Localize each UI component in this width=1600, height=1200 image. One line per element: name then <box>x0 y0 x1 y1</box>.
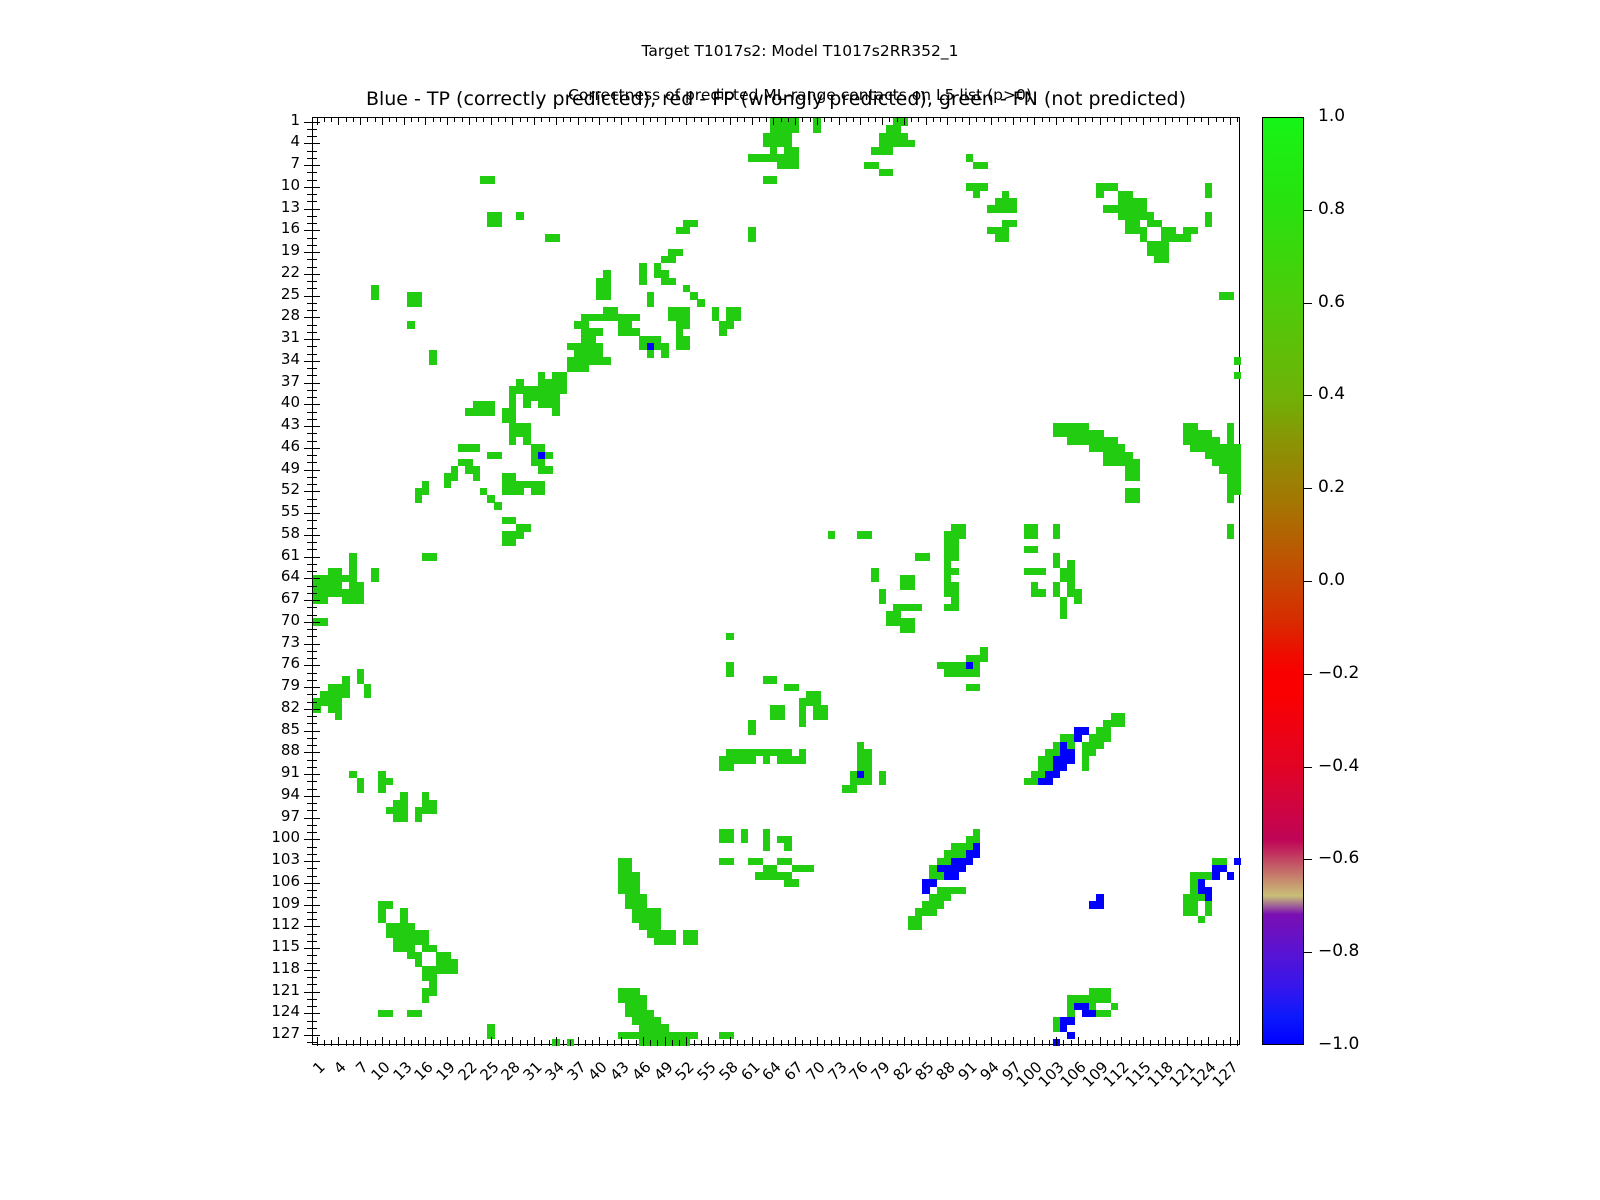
y-tick-right <box>313 506 317 507</box>
x-tick-top <box>556 118 557 125</box>
cell-fn <box>886 147 894 155</box>
y-tick-right <box>313 1035 320 1036</box>
y-tick-label: 37 <box>210 372 300 390</box>
y-tick-right <box>313 143 320 144</box>
cell-fn <box>676 249 684 257</box>
cell-tp <box>1053 763 1061 771</box>
y-tick-right <box>313 709 320 710</box>
y-tick <box>304 535 313 536</box>
colorbar-tick <box>1304 581 1312 582</box>
y-tick-right <box>313 368 317 369</box>
x-tick-top <box>1092 118 1093 122</box>
cell-tp <box>958 858 966 866</box>
cell-fn <box>545 452 553 460</box>
cell-fn <box>560 386 568 394</box>
cell-fn <box>328 589 336 597</box>
x-tick-top <box>1063 118 1064 122</box>
y-tick-right <box>313 615 317 616</box>
y-tick-right <box>313 955 317 956</box>
x-tick-top <box>1179 118 1180 122</box>
cell-fn <box>661 350 669 358</box>
x-tick <box>338 1037 339 1046</box>
x-tick-top <box>897 118 898 122</box>
y-tick-right <box>313 549 317 550</box>
y-tick-right <box>313 629 317 630</box>
x-tick-top <box>1150 118 1151 122</box>
cell-tp <box>929 879 937 887</box>
x-tick <box>1027 1040 1028 1046</box>
cell-fn <box>922 553 930 561</box>
cell-fn <box>429 357 437 365</box>
x-tick <box>1005 1040 1006 1046</box>
x-tick <box>1143 1037 1144 1046</box>
y-tick-right <box>313 622 320 623</box>
y-tick-right <box>313 245 317 246</box>
y-tick-right <box>313 470 320 471</box>
x-tick <box>1085 1040 1086 1046</box>
y-tick-right <box>313 1006 317 1007</box>
y-tick-right <box>313 528 317 529</box>
cell-fn <box>523 401 531 409</box>
cell-fn <box>1103 1010 1111 1018</box>
y-tick <box>304 143 313 144</box>
x-tick-top <box>454 118 455 122</box>
y-tick-right <box>313 861 320 862</box>
x-tick-top <box>998 118 999 122</box>
y-tick-right <box>313 941 317 942</box>
y-tick <box>304 774 313 775</box>
x-tick-top <box>512 118 513 125</box>
x-tick-top <box>505 118 506 122</box>
x-tick-top <box>462 118 463 122</box>
x-tick <box>868 1040 869 1046</box>
y-tick-right <box>313 397 317 398</box>
cell-fn <box>415 1010 423 1018</box>
y-tick-right <box>313 441 317 442</box>
y-tick <box>304 818 313 819</box>
x-tick-top <box>904 118 905 125</box>
y-tick-label: 7 <box>210 154 300 172</box>
x-tick <box>411 1040 412 1046</box>
x-tick-top <box>1013 118 1014 125</box>
cell-fn <box>647 350 655 358</box>
cell-fn <box>335 713 343 721</box>
cell-tp <box>857 771 865 779</box>
cell-fn <box>770 176 778 184</box>
x-tick <box>781 1040 782 1046</box>
y-tick-right <box>313 151 317 152</box>
y-tick <box>304 992 313 993</box>
x-tick-top <box>1194 118 1195 122</box>
suptitle-line-1: Target T1017s2: Model T1017s2RR352_1 <box>642 42 959 60</box>
colorbar-tick <box>1304 767 1312 768</box>
y-tick-label: 10 <box>210 176 300 194</box>
colorbar-tick <box>1304 395 1312 396</box>
y-tick <box>304 1013 313 1014</box>
y-tick-right <box>313 491 320 492</box>
cell-fn <box>741 756 749 764</box>
y-tick-label: 55 <box>210 502 300 520</box>
cell-fn <box>690 1032 698 1040</box>
x-tick-top <box>425 118 426 125</box>
cell-tp <box>922 887 930 895</box>
y-tick-right <box>313 636 317 637</box>
x-tick-top <box>1005 118 1006 122</box>
x-tick-top <box>621 118 622 125</box>
y-tick <box>304 187 313 188</box>
cell-fn <box>487 401 495 409</box>
x-tick-top <box>1056 118 1057 125</box>
x-tick <box>1237 1040 1238 1046</box>
cell-fn <box>973 669 981 677</box>
cell-fn <box>386 807 394 815</box>
x-tick-top <box>447 118 448 125</box>
x-tick-top <box>1187 118 1188 125</box>
y-tick-right <box>313 702 317 703</box>
y-tick-label: 22 <box>210 263 300 281</box>
cell-tp <box>1234 858 1242 866</box>
cell-tp <box>1212 872 1220 880</box>
x-tick-top <box>831 118 832 122</box>
y-tick-right <box>313 1021 317 1022</box>
y-tick-right <box>313 716 317 717</box>
y-tick-label: 88 <box>210 741 300 759</box>
y-tick <box>304 839 313 840</box>
x-tick-top <box>1230 118 1231 125</box>
x-tick-top <box>338 118 339 125</box>
y-tick-label: 1 <box>210 111 300 129</box>
cell-fn <box>973 191 981 199</box>
x-tick-top <box>744 118 745 122</box>
cell-fn <box>639 278 647 286</box>
y-tick <box>304 926 313 927</box>
y-tick-right <box>313 165 320 166</box>
x-tick-top <box>752 118 753 125</box>
x-tick <box>889 1040 890 1046</box>
y-tick <box>304 448 313 449</box>
y-tick <box>304 470 313 471</box>
cell-fn <box>407 321 415 329</box>
x-tick <box>1230 1037 1231 1046</box>
x-tick <box>1020 1040 1021 1046</box>
y-tick-label: 76 <box>210 654 300 672</box>
contact-map-plot[interactable] <box>312 117 1240 1045</box>
y-tick <box>304 665 313 666</box>
y-tick-right <box>313 448 320 449</box>
cell-fn <box>763 843 771 851</box>
x-tick-top <box>563 118 564 122</box>
y-tick-right <box>313 404 320 405</box>
x-tick <box>1194 1040 1195 1046</box>
y-tick-right <box>313 745 317 746</box>
y-tick-right <box>313 535 320 536</box>
y-tick-right <box>313 738 317 739</box>
y-tick-right <box>313 593 317 594</box>
x-tick-top <box>650 118 651 122</box>
x-tick <box>353 1040 354 1046</box>
cell-fn <box>908 582 916 590</box>
cell-fn <box>509 437 517 445</box>
x-tick <box>599 1037 600 1046</box>
x-tick <box>976 1040 977 1046</box>
y-tick-right <box>313 557 320 558</box>
cell-fn <box>864 531 872 539</box>
x-tick-top <box>1114 118 1115 122</box>
y-tick-label: 91 <box>210 763 300 781</box>
y-tick-right <box>313 513 320 514</box>
cell-fn <box>864 778 872 786</box>
y-tick-right <box>313 905 320 906</box>
cell-fn <box>552 234 560 242</box>
cell-fn <box>1118 720 1126 728</box>
cell-tp <box>538 452 546 460</box>
x-tick-top <box>686 118 687 125</box>
y-tick-right <box>313 1042 317 1043</box>
cell-fn <box>784 133 792 141</box>
cell-fn <box>806 865 814 873</box>
y-tick-right <box>313 963 317 964</box>
x-tick <box>831 1040 832 1046</box>
cell-tp <box>1205 894 1213 902</box>
y-tick-right <box>313 172 317 173</box>
cell-fn <box>784 843 792 851</box>
x-tick-top <box>657 118 658 122</box>
x-tick <box>1158 1040 1159 1046</box>
y-tick-right <box>313 897 317 898</box>
cell-fn <box>1132 473 1140 481</box>
y-tick-right <box>313 600 320 601</box>
y-tick-right <box>313 383 320 384</box>
y-tick <box>304 426 313 427</box>
x-tick-top <box>694 118 695 122</box>
y-tick-right <box>313 644 320 645</box>
x-tick <box>926 1037 927 1046</box>
x-tick <box>440 1040 441 1046</box>
y-tick-right <box>313 810 317 811</box>
cell-fn <box>944 894 952 902</box>
x-tick <box>636 1040 637 1046</box>
y-tick-right <box>313 977 317 978</box>
cell-fn <box>915 923 923 931</box>
x-tick-top <box>860 118 861 125</box>
y-tick <box>304 1035 313 1036</box>
x-tick-top <box>1201 118 1202 122</box>
x-tick-top <box>346 118 347 122</box>
y-tick-label: 16 <box>210 219 300 237</box>
cell-fn <box>1103 734 1111 742</box>
x-tick <box>534 1037 535 1046</box>
x-tick <box>1223 1040 1224 1046</box>
y-tick-right <box>313 984 317 985</box>
x-tick <box>433 1040 434 1046</box>
cell-fn <box>371 292 379 300</box>
x-tick <box>346 1040 347 1046</box>
cell-fn <box>792 125 800 133</box>
x-tick <box>592 1040 593 1046</box>
cell-fn <box>1234 372 1242 380</box>
x-tick <box>1114 1040 1115 1046</box>
x-tick <box>498 1040 499 1046</box>
y-tick-right <box>313 854 317 855</box>
cell-fn <box>320 597 328 605</box>
x-tick-top <box>636 118 637 122</box>
cell-fn <box>487 1024 495 1032</box>
cell-fn <box>748 234 756 242</box>
cell-fn <box>581 365 589 373</box>
y-tick-right <box>313 317 320 318</box>
x-tick-top <box>585 118 586 122</box>
y-tick-right <box>313 281 317 282</box>
x-tick-top <box>773 118 774 125</box>
y-tick-label: 58 <box>210 524 300 542</box>
y-tick-right <box>313 774 320 775</box>
x-tick-top <box>947 118 948 125</box>
y-tick-right <box>313 803 317 804</box>
x-tick <box>1121 1037 1122 1046</box>
x-tick <box>1078 1037 1079 1046</box>
cell-fn <box>937 901 945 909</box>
cell-fn <box>690 220 698 228</box>
y-tick-right <box>313 361 320 362</box>
colorbar-tick-label: −0.2 <box>1318 663 1359 683</box>
x-tick-top <box>592 118 593 122</box>
x-tick <box>454 1040 455 1046</box>
x-tick-top <box>599 118 600 125</box>
x-tick <box>527 1040 528 1046</box>
y-tick-right <box>313 303 317 304</box>
x-tick-top <box>491 118 492 125</box>
x-tick <box>549 1040 550 1046</box>
y-tick-label: 43 <box>210 415 300 433</box>
y-tick <box>304 752 313 753</box>
y-tick-right <box>313 332 317 333</box>
y-tick <box>304 274 313 275</box>
x-tick-top <box>1107 118 1108 122</box>
y-tick-right <box>313 520 317 521</box>
cell-tp <box>966 858 974 866</box>
y-tick-label: 52 <box>210 480 300 498</box>
x-tick-top <box>1020 118 1021 122</box>
y-tick-right <box>313 723 317 724</box>
x-tick <box>1092 1040 1093 1046</box>
x-tick-top <box>795 118 796 125</box>
x-tick-top <box>418 118 419 122</box>
colorbar-tick <box>1304 674 1312 675</box>
y-tick-right <box>313 267 317 268</box>
y-tick-label: 94 <box>210 785 300 803</box>
y-tick-right <box>313 230 320 231</box>
cell-tp <box>1074 734 1082 742</box>
x-tick <box>1129 1040 1130 1046</box>
x-tick-top <box>578 118 579 125</box>
cell-fn <box>429 553 437 561</box>
cell-fn <box>473 444 481 452</box>
y-tick-label: 112 <box>210 915 300 933</box>
x-tick <box>839 1037 840 1046</box>
cell-fn <box>1205 191 1213 199</box>
cell-fn <box>980 183 988 191</box>
y-tick-right <box>313 564 317 565</box>
x-tick <box>904 1037 905 1046</box>
y-tick-right <box>313 180 317 181</box>
x-tick-top <box>1071 118 1072 122</box>
y-tick-label: 82 <box>210 698 300 716</box>
x-tick <box>628 1040 629 1046</box>
x-tick <box>969 1037 970 1046</box>
x-tick <box>795 1037 796 1046</box>
cell-fn <box>734 314 742 322</box>
x-tick <box>911 1040 912 1046</box>
x-tick-top <box>701 118 702 122</box>
x-tick <box>375 1040 376 1046</box>
y-tick-right <box>313 694 317 695</box>
colorbar-tick-label: 0.8 <box>1318 199 1345 219</box>
y-tick <box>304 361 313 362</box>
x-tick-top <box>382 118 383 125</box>
x-tick-top <box>1121 118 1122 125</box>
x-tick-top <box>955 118 956 122</box>
y-tick-right <box>313 912 317 913</box>
cell-fn <box>697 299 705 307</box>
x-tick <box>476 1040 477 1046</box>
x-tick <box>918 1040 919 1046</box>
x-tick <box>643 1037 644 1046</box>
cell-fn <box>516 531 524 539</box>
cell-fn <box>951 553 959 561</box>
x-tick <box>860 1037 861 1046</box>
colorbar-tick-label: 0.6 <box>1318 292 1345 312</box>
x-tick-top <box>788 118 789 122</box>
cell-tp <box>1067 1017 1075 1025</box>
x-tick-top <box>824 118 825 122</box>
x-tick <box>1071 1040 1072 1046</box>
x-tick-top <box>926 118 927 125</box>
y-tick-label: 106 <box>210 872 300 890</box>
y-tick-label: 100 <box>210 828 300 846</box>
cell-fn <box>393 937 401 945</box>
x-tick <box>694 1040 695 1046</box>
x-tick-top <box>1034 118 1035 125</box>
y-tick <box>304 122 313 123</box>
x-tick-top <box>1129 118 1130 122</box>
cell-fn <box>871 575 879 583</box>
cell-fn <box>1009 205 1017 213</box>
x-tick-top <box>1165 118 1166 125</box>
y-tick-right <box>313 934 317 935</box>
cell-fn <box>879 597 887 605</box>
cell-fn <box>444 481 452 489</box>
cell-fn <box>1111 1003 1119 1011</box>
x-tick-top <box>476 118 477 122</box>
cell-fn <box>523 524 531 532</box>
cell-fn <box>879 778 887 786</box>
cell-tp <box>1067 1032 1075 1040</box>
x-tick-top <box>469 118 470 125</box>
x-tick-top <box>817 118 818 125</box>
x-tick <box>1100 1037 1101 1046</box>
y-tick-right <box>313 578 320 579</box>
y-tick-right <box>313 847 317 848</box>
cell-fn <box>1060 611 1068 619</box>
cell-tp <box>1060 763 1068 771</box>
y-tick-label: 31 <box>210 328 300 346</box>
y-tick-label: 124 <box>210 1002 300 1020</box>
y-tick <box>304 252 313 253</box>
x-tick-top <box>853 118 854 122</box>
y-tick-label: 85 <box>210 720 300 738</box>
cell-tp <box>973 850 981 858</box>
colorbar-tick-label: −0.4 <box>1318 756 1359 776</box>
